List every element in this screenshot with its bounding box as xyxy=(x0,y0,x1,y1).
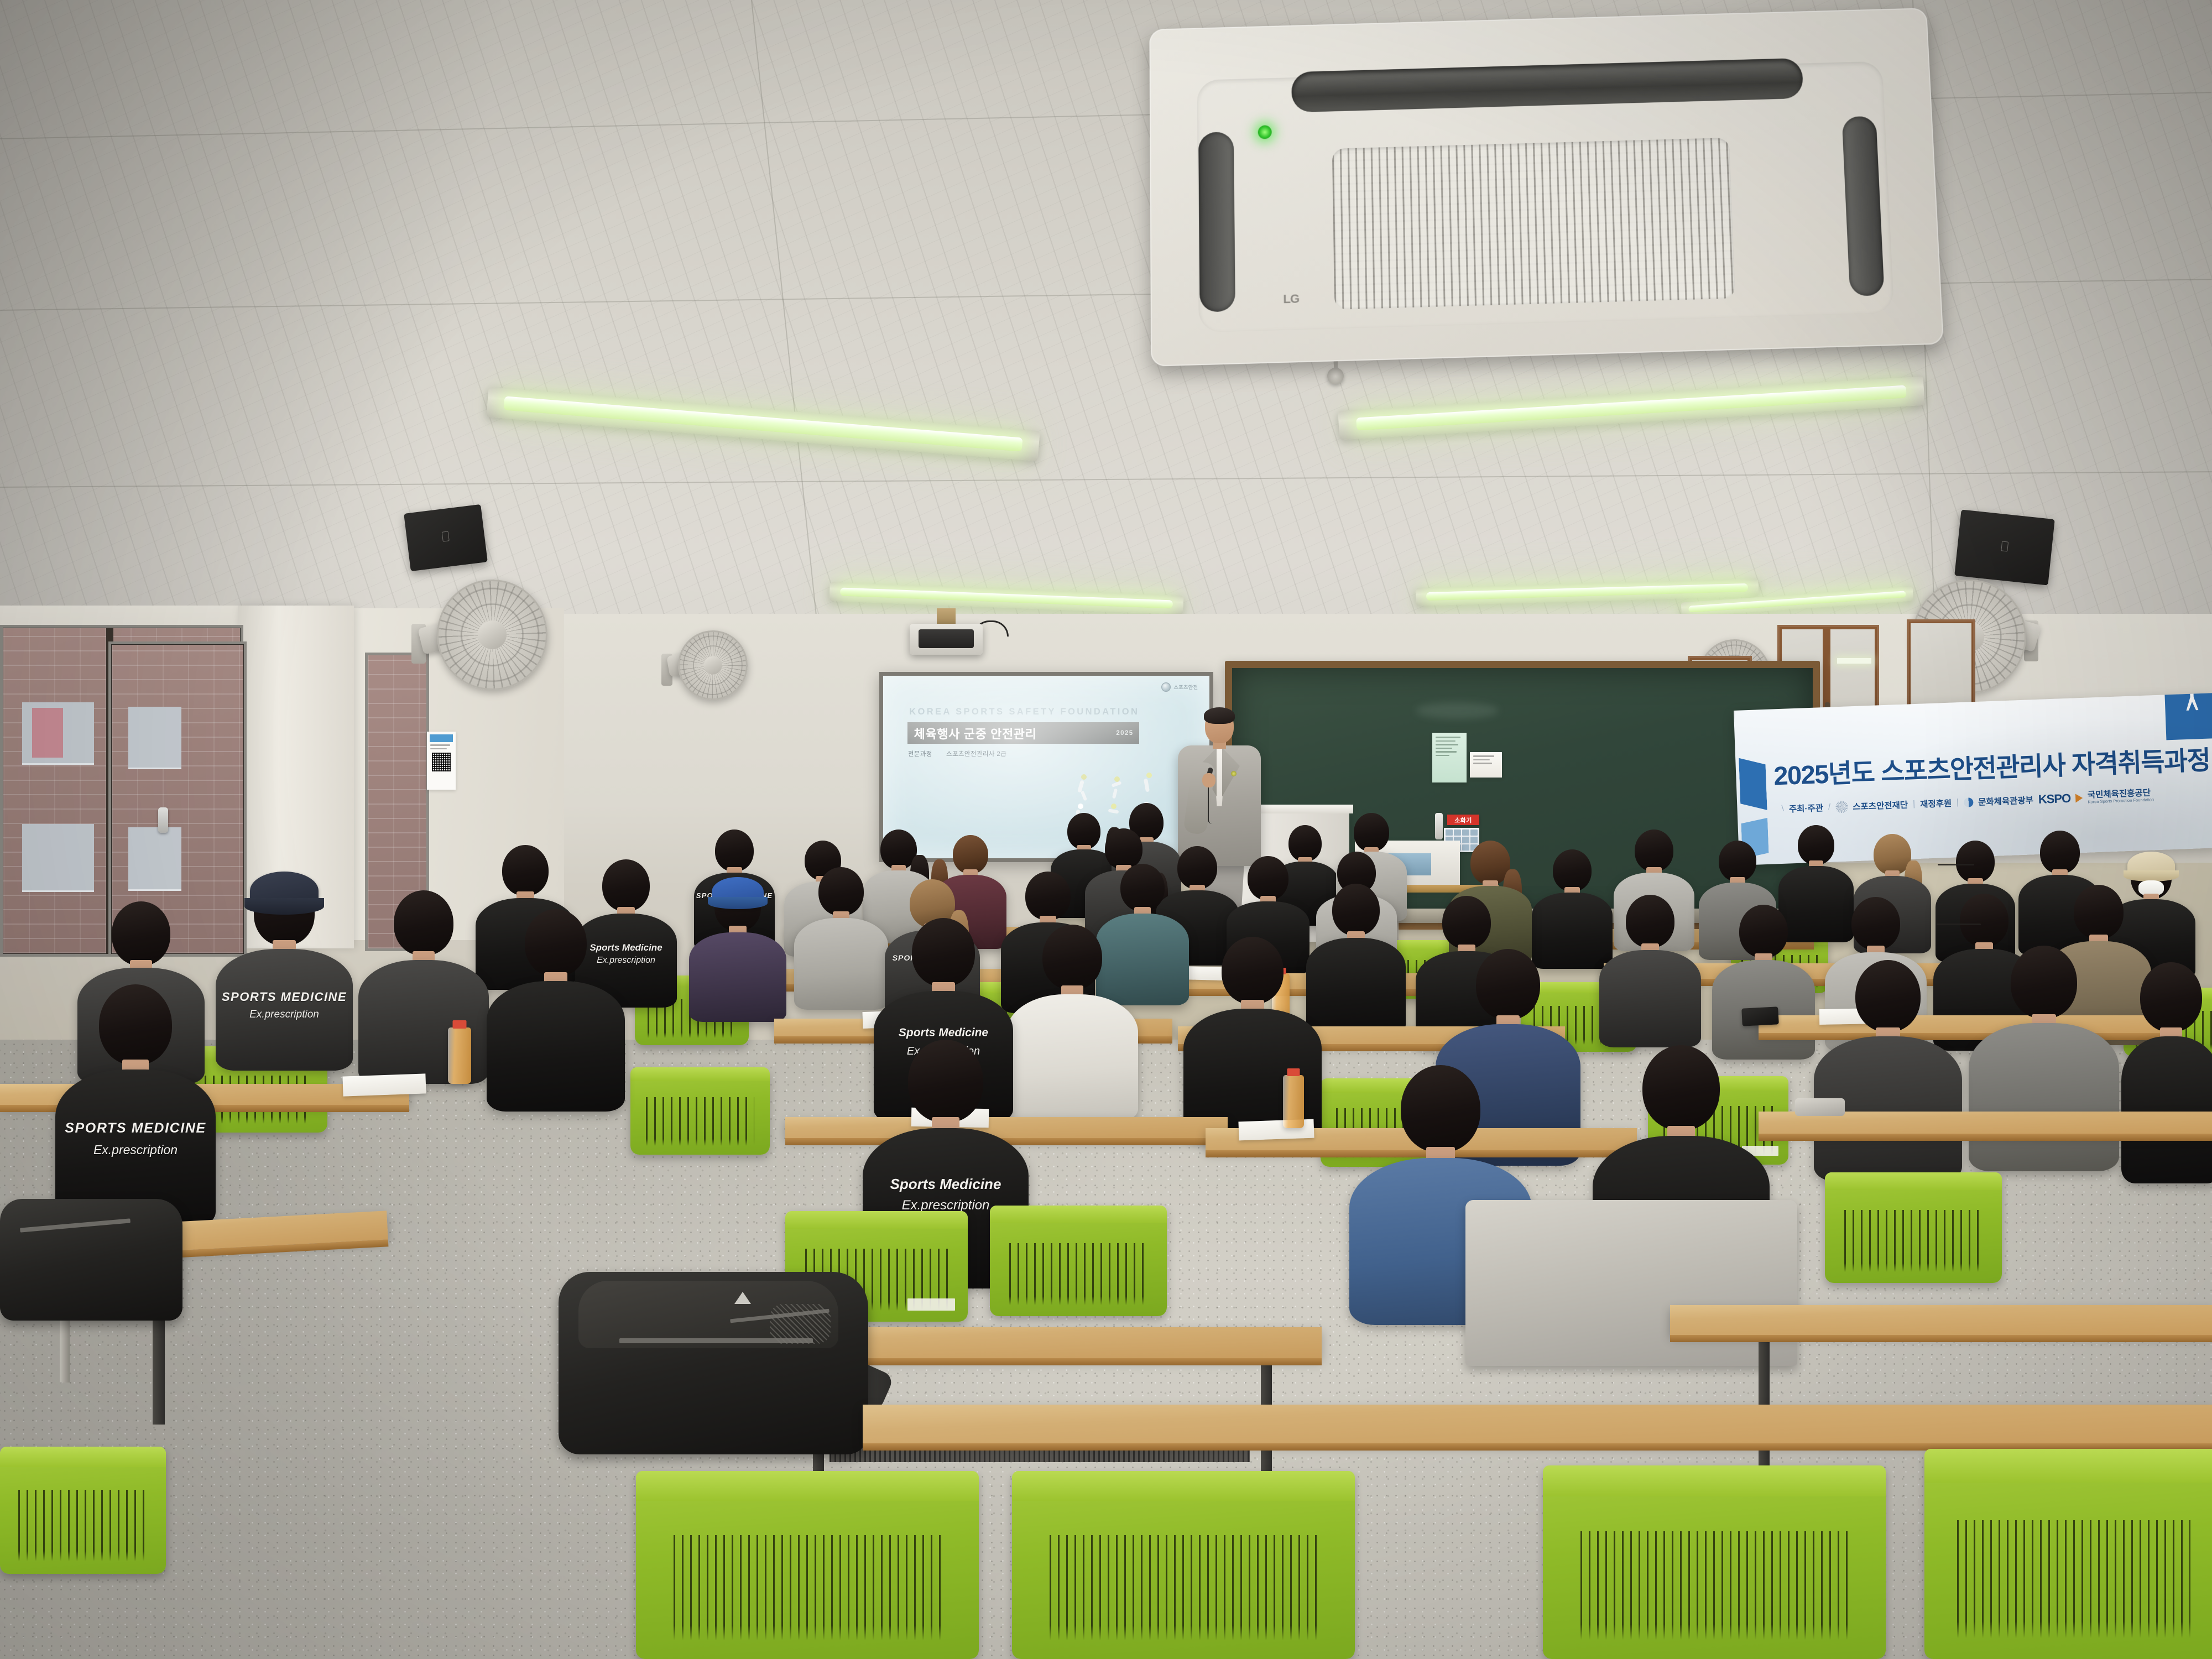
backpack-mesh xyxy=(770,1304,831,1344)
student-head xyxy=(2040,831,2080,874)
wall-poster-green xyxy=(1432,733,1467,782)
foundation-logo-icon xyxy=(1161,682,1171,692)
student-head xyxy=(112,901,170,966)
student xyxy=(1599,895,1701,1047)
chair[interactable] xyxy=(1012,1471,1355,1659)
smartphone[interactable] xyxy=(1741,1006,1779,1026)
sprinkler-head-icon xyxy=(1327,368,1344,384)
handout[interactable] xyxy=(342,1073,426,1096)
student-head xyxy=(1553,849,1592,891)
wall-poster-white xyxy=(1470,752,1502,778)
student xyxy=(487,909,625,1112)
student xyxy=(1814,960,1962,1181)
student-head xyxy=(99,984,172,1065)
speaker-icon xyxy=(404,504,488,571)
government-mark-icon xyxy=(1964,797,1974,807)
student-with-cap: SPORTS MEDICINE Ex.prescription xyxy=(216,872,353,1071)
student-head xyxy=(602,859,650,911)
eyeglasses-icon xyxy=(1938,864,1974,865)
projector-icon xyxy=(910,624,983,655)
eyeglass-case[interactable] xyxy=(1795,1098,1845,1116)
chair[interactable] xyxy=(990,1206,1167,1316)
banner-host-label: 주최·주관 xyxy=(1788,801,1823,815)
student-torso xyxy=(1599,950,1701,1047)
ac-brand-label: LG xyxy=(1283,291,1306,306)
backpack[interactable] xyxy=(559,1272,868,1454)
student-head xyxy=(1855,960,1921,1032)
corridor-light xyxy=(1837,658,1871,664)
student-head xyxy=(1332,884,1380,936)
shoulder-bag[interactable] xyxy=(0,1199,182,1321)
chair[interactable] xyxy=(636,1471,979,1659)
student-sports-medicine: SPORTS MEDICINE Ex.prescription xyxy=(55,984,216,1228)
student-head xyxy=(2140,962,2202,1032)
banner-accent-shape xyxy=(1739,757,1767,811)
student-with-cap xyxy=(689,877,786,1022)
student-head xyxy=(1642,1045,1720,1130)
cap-brim xyxy=(708,897,768,909)
foundation-mark-icon xyxy=(1835,801,1848,813)
student-torso xyxy=(1969,1023,2119,1171)
student-torso xyxy=(216,949,353,1071)
slide-title-bar: 체육행사 군중 안전관리 2025 xyxy=(907,722,1139,744)
lecturer-hair xyxy=(1204,707,1235,724)
student-head xyxy=(1248,856,1288,900)
drink-bottle[interactable] xyxy=(448,1027,471,1084)
student-head xyxy=(1956,841,1995,883)
student-head xyxy=(1442,896,1491,949)
student-head xyxy=(715,830,754,872)
chair[interactable] xyxy=(0,1447,166,1574)
ac-vent-left xyxy=(1198,132,1235,312)
student-head xyxy=(1626,895,1674,948)
qr-notice-poster xyxy=(427,732,456,790)
kspo-accent-icon xyxy=(2075,794,2083,802)
slide-subtitle-a: 전문과정 xyxy=(908,751,932,758)
slide-logo: 스포츠안전 xyxy=(1161,682,1198,692)
student-torso xyxy=(689,932,786,1022)
fire-extinguisher-sign: 소화기 xyxy=(1447,815,1479,825)
student-head xyxy=(908,1040,983,1123)
desk xyxy=(863,1405,2212,1443)
kspo-wordmark: KSPO xyxy=(2038,791,2070,807)
kspo-english-name: Korea Sports Promotion Foundation xyxy=(2088,797,2154,804)
student-head xyxy=(2011,946,2077,1019)
eyeglasses-icon xyxy=(1937,924,1981,925)
lecturer-hand xyxy=(1202,773,1215,787)
chair[interactable] xyxy=(1825,1172,2002,1283)
student-head xyxy=(1851,897,1900,950)
student-head xyxy=(1120,864,1165,911)
chair[interactable] xyxy=(1543,1465,1886,1659)
cap-brim xyxy=(244,898,324,915)
student-head xyxy=(1476,949,1540,1020)
student-head xyxy=(912,918,975,987)
slide-subtitle-b: 스포츠안전관리사 2급 xyxy=(946,751,1006,758)
student-head xyxy=(1222,937,1284,1004)
student-head xyxy=(2074,885,2124,939)
student-torso xyxy=(487,981,625,1112)
student-head xyxy=(525,909,587,977)
window-latch[interactable] xyxy=(158,807,168,833)
slide-kicker: KOREA SPORTS SAFETY FOUNDATION xyxy=(909,707,1139,717)
speaker-icon xyxy=(1954,509,2055,585)
classroom-photo: LG xyxy=(0,0,2212,1659)
slide-subtitle: 전문과정 스포츠안전관리사 2급 xyxy=(908,749,1006,758)
student xyxy=(2121,962,2212,1183)
student-head xyxy=(1025,872,1071,920)
student-head xyxy=(1401,1065,1480,1152)
student-head xyxy=(953,835,988,874)
student-head xyxy=(1635,830,1673,872)
student-head xyxy=(1739,905,1788,958)
banner-credits: \ 주최·주관 / 스포츠안전재단 | 재정후원 | 문화체육관광부 KSPO … xyxy=(1781,788,2154,816)
fire-extinguisher xyxy=(1435,813,1443,839)
student-head xyxy=(1719,841,1756,881)
student-head xyxy=(394,890,453,956)
desk xyxy=(1670,1305,2212,1335)
chalkboard-smudge xyxy=(1416,702,1499,719)
slide-year: 2025 xyxy=(1116,730,1133,737)
chair[interactable] xyxy=(1924,1449,2212,1659)
student-head xyxy=(818,867,864,916)
chair[interactable] xyxy=(630,1067,770,1155)
student-head xyxy=(1960,894,2008,947)
student-head xyxy=(1042,925,1102,990)
microphone-cable xyxy=(1208,783,1212,824)
drink-bottle[interactable] xyxy=(1283,1075,1304,1128)
student-head xyxy=(1798,825,1834,865)
student-head xyxy=(502,845,549,896)
banner-host-org: 스포츠안전재단 xyxy=(1853,799,1908,813)
cap-brim xyxy=(2124,870,2179,881)
ac-intake-grille xyxy=(1332,138,1735,310)
banner-funding-label: 재정후원 xyxy=(1920,797,1952,810)
lecturer-lapel-badge xyxy=(1231,771,1237,776)
ceiling-air-conditioner: LG xyxy=(1149,8,1944,367)
slide-title: 체육행사 군중 안전관리 xyxy=(914,724,1037,742)
student-head xyxy=(1105,828,1142,869)
student-torso xyxy=(2121,1036,2212,1183)
ceiling-shadow-left xyxy=(0,0,608,680)
banner-ministry: 문화체육관광부 xyxy=(1978,794,2034,808)
student-head xyxy=(1354,813,1389,852)
banner-title: 2025년도 스포츠안전관리사 자격취득과정 xyxy=(1773,739,2211,793)
qr-code-icon xyxy=(432,753,451,771)
banner-athlete-icon xyxy=(2182,693,2202,711)
